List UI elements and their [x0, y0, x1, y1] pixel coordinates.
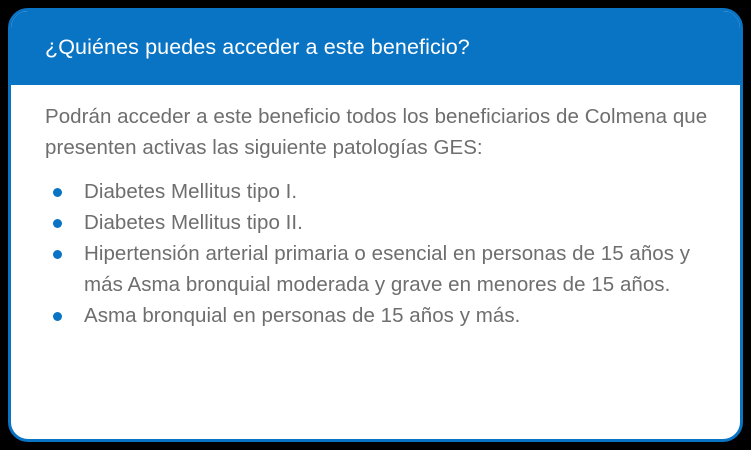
list-item-label: Asma bronquial en personas de 15 años y … — [84, 304, 520, 327]
list-item: Diabetes Mellitus tipo I. — [45, 176, 710, 207]
card-header-title: ¿Quiénes puedes acceder a este beneficio… — [45, 35, 470, 61]
list-item: Diabetes Mellitus tipo II. — [45, 207, 710, 238]
list-item-label: Diabetes Mellitus tipo I. — [84, 180, 297, 203]
list-item-label: Hipertensión arterial primaria o esencia… — [84, 242, 690, 296]
card-body: Podrán acceder a este beneficio todos lo… — [11, 85, 740, 331]
intro-paragraph: Podrán acceder a este beneficio todos lo… — [45, 101, 710, 163]
bullet-dot-icon — [53, 250, 62, 259]
benefit-list: Diabetes Mellitus tipo I. Diabetes Melli… — [45, 176, 710, 331]
list-item: Hipertensión arterial primaria o esencia… — [45, 238, 710, 300]
card-header: ¿Quiénes puedes acceder a este beneficio… — [11, 11, 740, 85]
bullet-dot-icon — [53, 312, 62, 321]
benefit-info-card: ¿Quiénes puedes acceder a este beneficio… — [8, 8, 743, 442]
bullet-dot-icon — [53, 219, 62, 228]
list-item: Asma bronquial en personas de 15 años y … — [45, 300, 710, 331]
bullet-dot-icon — [53, 188, 62, 197]
list-item-label: Diabetes Mellitus tipo II. — [84, 211, 303, 234]
